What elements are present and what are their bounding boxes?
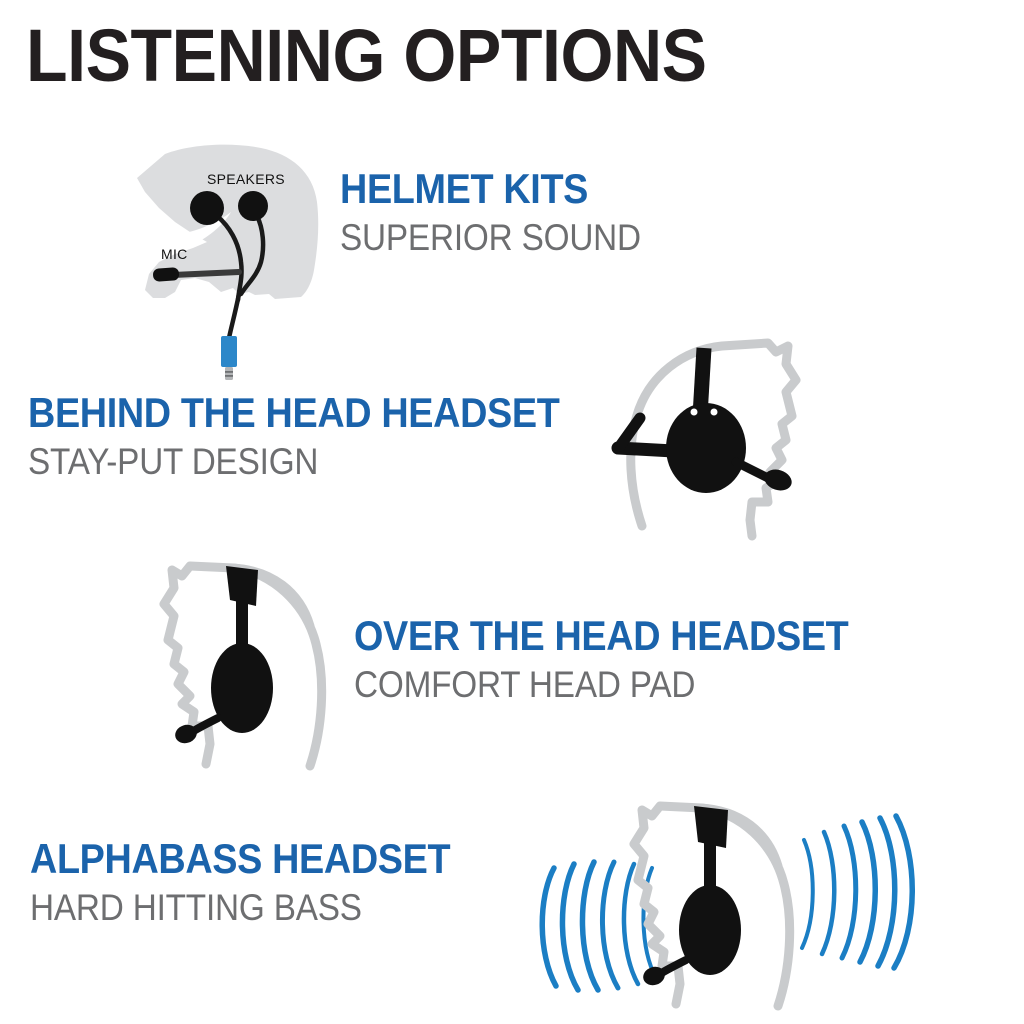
option-text-behind-the-head-headset: BEHIND THE HEAD HEADSET STAY-PUT DESIGN (28, 392, 619, 480)
sound-wave-arc (582, 862, 598, 990)
sound-wave-arc (842, 826, 856, 958)
option-title-helmet-kits: HELMET KITS (340, 168, 641, 210)
label-speakers: SPEAKERS (207, 171, 285, 187)
sound-wave-arc (878, 818, 895, 966)
sound-wave-arc (860, 822, 875, 962)
sound-wave-arc (562, 864, 578, 990)
jack-plug-ring-2 (225, 375, 233, 377)
sound-wave-arc (542, 868, 556, 986)
speaker-pad-right (238, 191, 268, 221)
sound-wave-arc (802, 840, 813, 948)
jack-plug-tip (225, 367, 233, 380)
helmet-kit-svg: SPEAKERS MIC (135, 142, 350, 382)
infographic-canvas: LISTENING OPTIONS SPEAKERS MIC (0, 0, 1024, 1024)
earcup-pivot-right (711, 409, 718, 416)
sound-wave-arc (822, 832, 834, 954)
jack-plug-ring (225, 371, 233, 373)
illustration-helmet-kit: SPEAKERS MIC (135, 142, 350, 382)
jack-plug-body (221, 336, 237, 367)
option-title-over-the-head-headset: OVER THE HEAD HEADSET (354, 615, 848, 657)
illustration-over-the-head-headset (160, 552, 350, 782)
alphabass-headset-svg (540, 768, 890, 1018)
over-head-headset-svg (160, 552, 350, 782)
option-subtitle-behind-the-head-headset: STAY-PUT DESIGN (28, 443, 559, 480)
option-subtitle-alphabass-headset: HARD HITTING BASS (30, 889, 450, 926)
page-title: LISTENING OPTIONS (26, 16, 707, 96)
option-title-alphabass-headset: ALPHABASS HEADSET (30, 838, 450, 880)
option-subtitle-over-the-head-headset: COMFORT HEAD PAD (354, 666, 848, 703)
illustration-alphabass-headset (540, 768, 890, 1018)
headset-earcup (666, 403, 746, 493)
jack-cable (229, 294, 239, 338)
behind-head-headset-svg (600, 330, 850, 560)
sound-waves-right (802, 816, 912, 968)
option-title-behind-the-head-headset: BEHIND THE HEAD HEADSET (28, 392, 559, 434)
option-text-helmet-kits: HELMET KITS SUPERIOR SOUND (340, 168, 674, 256)
mic-capsule (153, 267, 180, 282)
sound-wave-arc (602, 862, 618, 988)
option-text-alphabass-headset: ALPHABASS HEADSET HARD HITTING BASS (30, 838, 497, 926)
option-text-over-the-head-headset: OVER THE HEAD HEADSET COMFORT HEAD PAD (354, 615, 903, 703)
mic-boom (173, 272, 239, 275)
illustration-behind-the-head-headset (600, 330, 850, 560)
speaker-pad-left (190, 191, 224, 225)
label-mic: MIC (161, 246, 188, 262)
option-subtitle-helmet-kits: SUPERIOR SOUND (340, 219, 641, 256)
earcup-pivot-left (691, 409, 698, 416)
